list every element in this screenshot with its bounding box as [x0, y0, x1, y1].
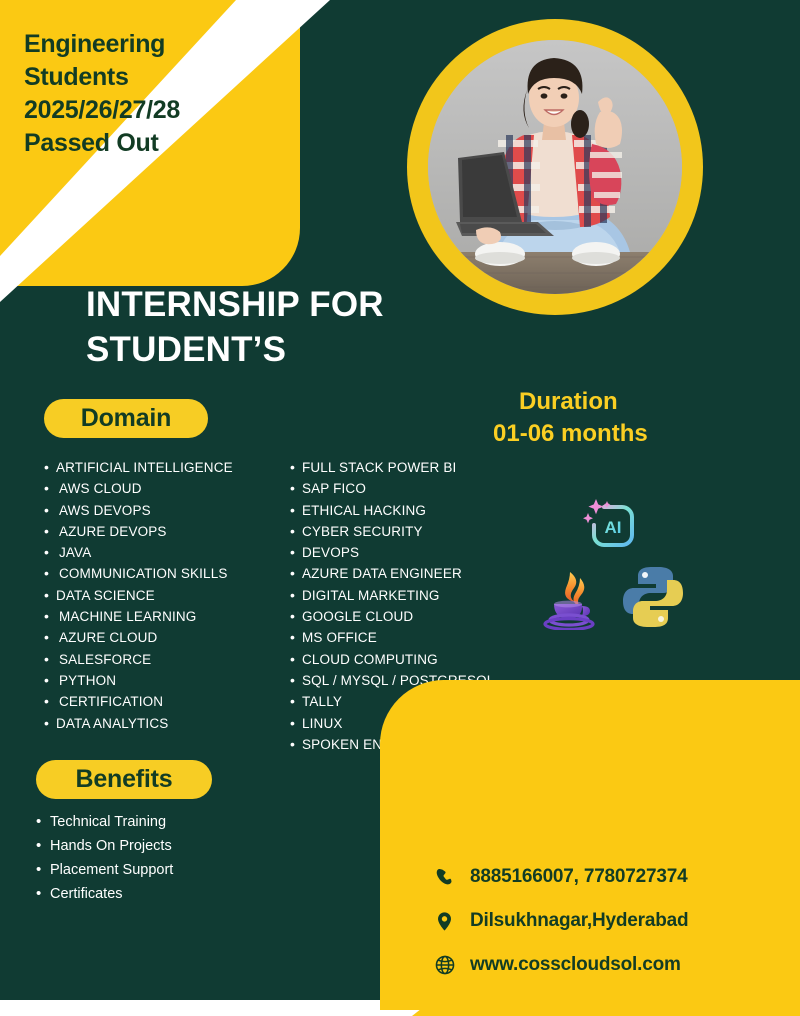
duration-block: Duration 01-06 months: [493, 386, 783, 450]
bullet-icon: •: [44, 670, 56, 691]
python-logo-icon: [620, 564, 686, 630]
ai-logo-icon: AI: [582, 495, 638, 551]
bullet-icon: •: [290, 521, 302, 542]
bullet-icon: •: [44, 457, 56, 478]
list-item: •Placement Support: [36, 858, 286, 882]
contact-row-address[interactable]: Dilsukhnagar,Hyderabad: [434, 899, 794, 943]
list-item: •ETHICAL HACKING: [290, 500, 540, 521]
header-line-1: Engineering: [24, 28, 294, 61]
list-item: •GOOGLE CLOUD: [290, 606, 540, 627]
list-item: •COMMUNICATION SKILLS: [44, 563, 274, 584]
location-pin-icon: [434, 911, 470, 932]
list-item: •AWS DEVOPS: [44, 500, 274, 521]
student-photo-illustration: [428, 40, 682, 294]
list-item: •PYTHON: [44, 670, 274, 691]
list-item: •CLOUD COMPUTING: [290, 649, 540, 670]
bullet-icon: •: [290, 478, 302, 499]
svg-text:AI: AI: [605, 518, 622, 537]
benefits-pill-label: Benefits: [75, 765, 172, 794]
bullet-icon: •: [36, 834, 50, 858]
list-item: •AZURE DATA ENGINEER: [290, 563, 540, 584]
contact-website-text: www.cosscloudsol.com: [470, 954, 681, 976]
page-title-line-1: INTERNSHIP FOR: [86, 283, 506, 328]
list-item: •DATA ANALYTICS: [44, 713, 274, 734]
list-item: •FULL STACK POWER BI: [290, 457, 540, 478]
list-item: •AZURE CLOUD: [44, 627, 274, 648]
contact-row-website[interactable]: www.cosscloudsol.com: [434, 943, 794, 987]
bullet-icon: •: [290, 670, 302, 691]
list-item: •MS OFFICE: [290, 627, 540, 648]
bullet-icon: •: [36, 882, 50, 906]
bullet-icon: •: [44, 585, 56, 606]
bullet-icon: •: [44, 563, 56, 584]
list-item: •CYBER SECURITY: [290, 521, 540, 542]
bullet-icon: •: [44, 649, 56, 670]
phone-icon: [434, 867, 470, 888]
list-item: •Technical Training: [36, 810, 286, 834]
bullet-icon: •: [290, 713, 302, 734]
bullet-icon: •: [290, 734, 302, 755]
list-item: •ARTIFICIAL INTELLIGENCE: [44, 457, 274, 478]
python-logo: [620, 564, 686, 630]
contact-row-phone[interactable]: 8885166007, 7780727374: [434, 855, 794, 899]
header-headline: Engineering Students 2025/26/27/28 Passe…: [24, 28, 294, 160]
bullet-icon: •: [44, 691, 56, 712]
poster-canvas: Engineering Students 2025/26/27/28 Passe…: [0, 0, 800, 1000]
header-line-3: 2025/26/27/28: [24, 94, 294, 127]
bullet-icon: •: [290, 542, 302, 563]
java-logo-icon: [540, 568, 602, 630]
bullet-icon: •: [290, 457, 302, 478]
contact-phone-text: 8885166007, 7780727374: [470, 866, 688, 888]
bullet-icon: •: [44, 606, 56, 627]
bullet-icon: •: [290, 606, 302, 627]
bullet-icon: •: [290, 649, 302, 670]
domain-pill-label: Domain: [81, 404, 171, 433]
duration-value: 01-06 months: [493, 418, 783, 450]
list-item: •Hands On Projects: [36, 834, 286, 858]
list-item: •SAP FICO: [290, 478, 540, 499]
page-title-line-2: STUDENT’S: [86, 328, 506, 373]
domain-list-left: •ARTIFICIAL INTELLIGENCE •AWS CLOUD •AWS…: [44, 457, 274, 734]
header-line-4: Passed Out: [24, 127, 294, 160]
list-item: •MACHINE LEARNING: [44, 606, 274, 627]
bullet-icon: •: [36, 810, 50, 834]
bullet-icon: •: [290, 500, 302, 521]
java-logo: [540, 568, 602, 630]
domain-section-pill: Domain: [44, 399, 208, 438]
benefits-list: •Technical Training •Hands On Projects •…: [36, 810, 286, 906]
bullet-icon: •: [36, 858, 50, 882]
bullet-icon: •: [44, 521, 56, 542]
header-line-2: Students: [24, 61, 294, 94]
list-item: •DATA SCIENCE: [44, 585, 274, 606]
page-title: INTERNSHIP FOR STUDENT’S: [86, 283, 506, 373]
bullet-icon: •: [44, 627, 56, 648]
bullet-icon: •: [290, 691, 302, 712]
list-item: •Certificates: [36, 882, 286, 906]
bullet-icon: •: [44, 500, 56, 521]
bullet-icon: •: [290, 585, 302, 606]
ai-logo: AI: [582, 495, 638, 551]
list-item: •JAVA: [44, 542, 274, 563]
list-item: •AWS CLOUD: [44, 478, 274, 499]
duration-label: Duration: [493, 386, 783, 418]
list-item: •DEVOPS: [290, 542, 540, 563]
bullet-icon: •: [44, 478, 56, 499]
contact-block: 8885166007, 7780727374 Dilsukhnagar,Hyde…: [434, 855, 794, 987]
bullet-icon: •: [44, 542, 56, 563]
contact-address-text: Dilsukhnagar,Hyderabad: [470, 910, 688, 932]
benefits-section-pill: Benefits: [36, 760, 212, 799]
list-item: •SALESFORCE: [44, 649, 274, 670]
list-item: •AZURE DEVOPS: [44, 521, 274, 542]
student-photo: [428, 40, 682, 294]
list-item: •CERTIFICATION: [44, 691, 274, 712]
bullet-icon: •: [44, 713, 56, 734]
bullet-icon: •: [290, 563, 302, 584]
globe-icon: [434, 954, 470, 976]
list-item: •DIGITAL MARKETING: [290, 585, 540, 606]
bullet-icon: •: [290, 627, 302, 648]
